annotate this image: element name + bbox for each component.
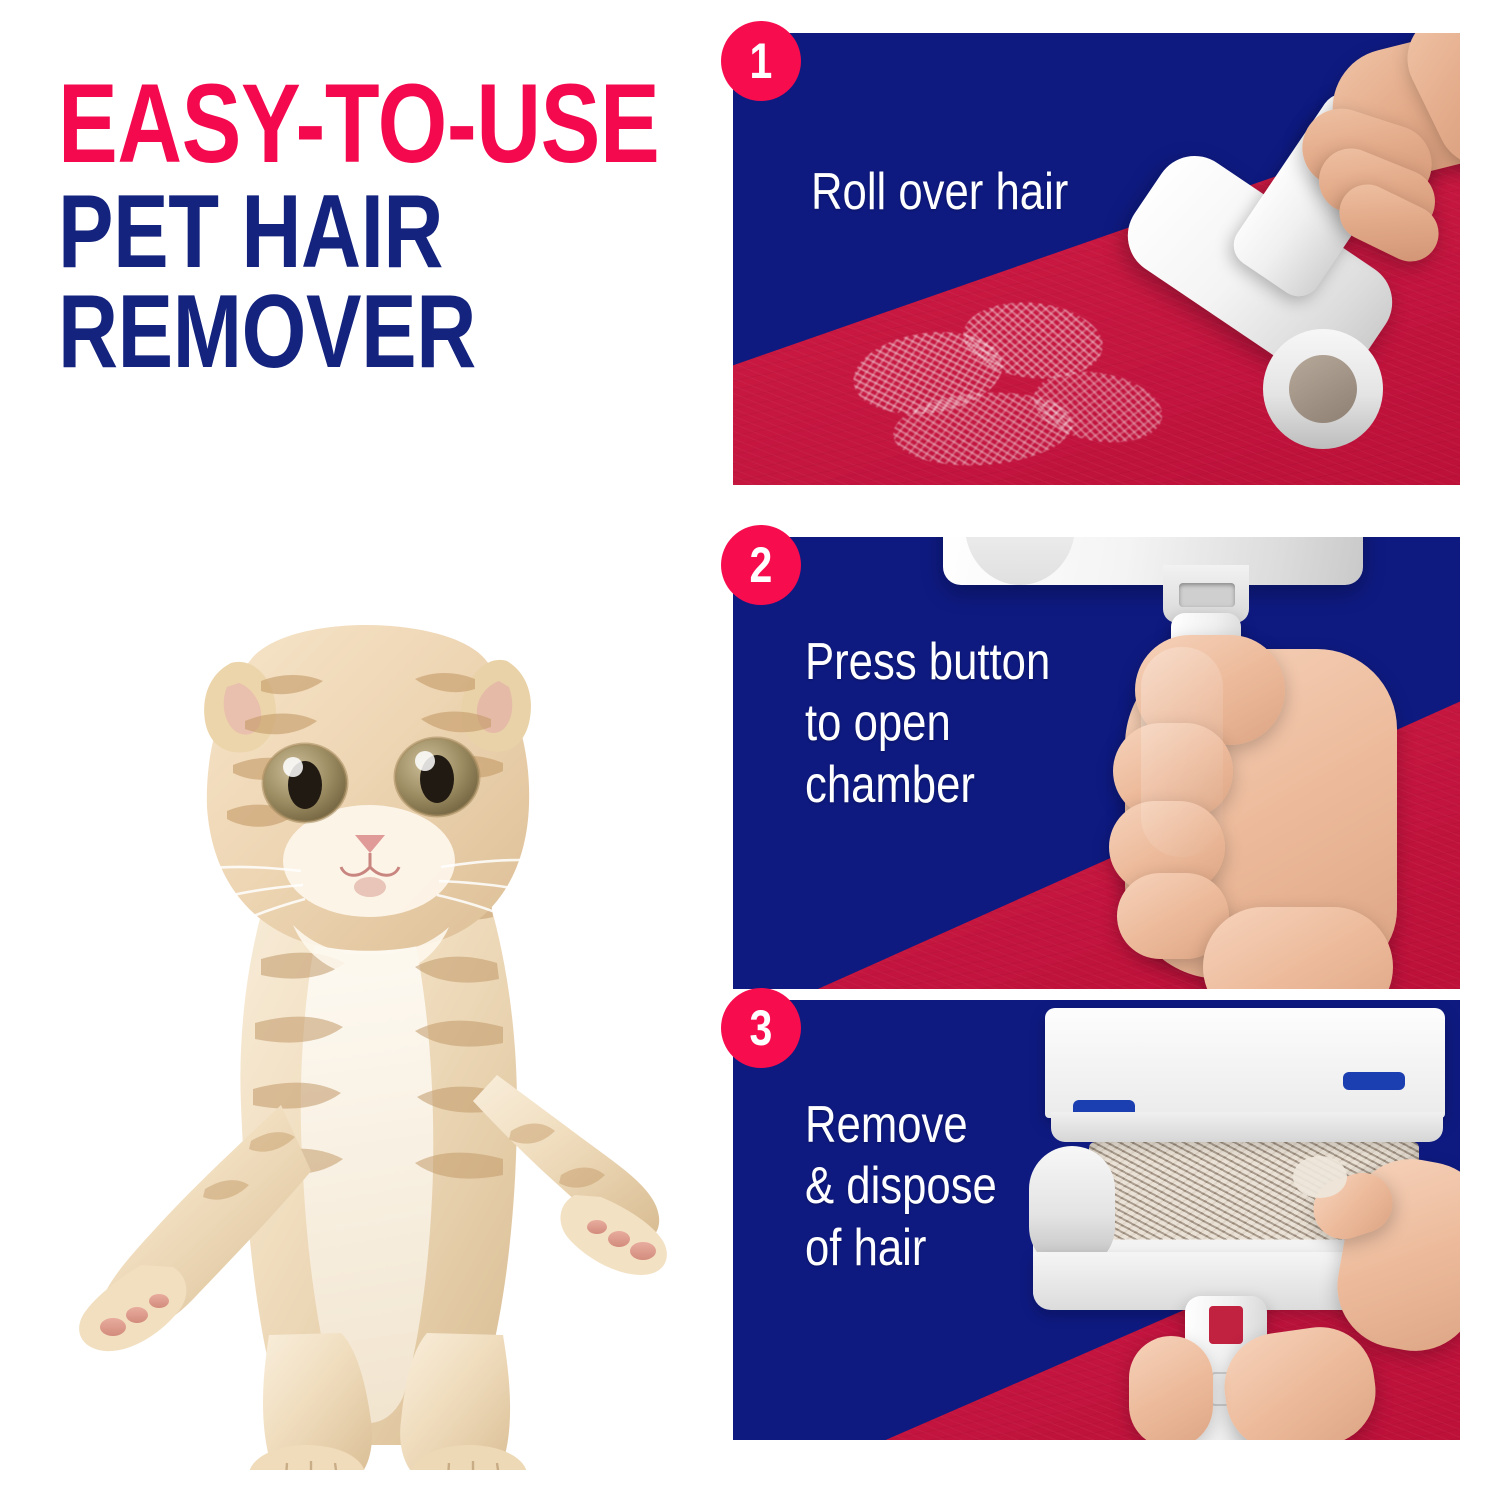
wrist (1203, 907, 1393, 989)
hair-pinch-tuft (1293, 1156, 1347, 1198)
step-2-caption-line-1: Press button (805, 632, 1050, 693)
step-2-number-badge: 2 (721, 525, 801, 605)
step-3-caption-line-3: of hair (805, 1218, 997, 1279)
step-1-artwork (733, 33, 1460, 485)
step-1-caption: Roll over hair (811, 165, 1068, 220)
release-latch (1209, 1306, 1243, 1344)
step-3-caption-line-1: Remove (805, 1095, 997, 1156)
step-3-number: 3 (750, 1003, 773, 1053)
release-button[interactable] (1179, 583, 1235, 607)
headline-line-3: REMOVER (58, 285, 586, 381)
step-2-number: 2 (750, 540, 773, 590)
headline-line-2: PET HAIR (58, 185, 586, 281)
step-1-number: 1 (750, 36, 773, 86)
hero-cat-image (55, 545, 695, 1470)
marketing-infographic: EASY-TO-USE PET HAIR REMOVER (0, 0, 1500, 1500)
step-2-caption-line-2: to open (805, 693, 1050, 754)
step-3-number-badge: 3 (721, 988, 801, 1068)
step-panel-1: 1 Roll over hair (733, 33, 1460, 485)
step-2-caption-line-3: chamber (805, 755, 1050, 816)
headline-line-1: EASY-TO-USE (58, 72, 586, 175)
step-3-caption: Remove & dispose of hair (805, 1095, 997, 1279)
page-title: EASY-TO-USE PET HAIR REMOVER (58, 72, 718, 380)
hand-highlight (1141, 647, 1223, 857)
cat-illustration (55, 545, 695, 1470)
step-panel-3: 3 Remove & dispose of hair (733, 1000, 1460, 1440)
step-panel-2: 2 Press button to open chamber (733, 537, 1460, 989)
step-3-caption-line-2: & dispose (805, 1156, 997, 1217)
step-2-caption: Press button to open chamber (805, 632, 1050, 816)
roller-end-cap (1289, 355, 1357, 423)
hand-finger (1129, 1336, 1213, 1440)
step-1-number-badge: 1 (721, 21, 801, 101)
lid-hinge-tab (1343, 1072, 1405, 1090)
step-1-caption-line-1: Roll over hair (811, 165, 1068, 220)
